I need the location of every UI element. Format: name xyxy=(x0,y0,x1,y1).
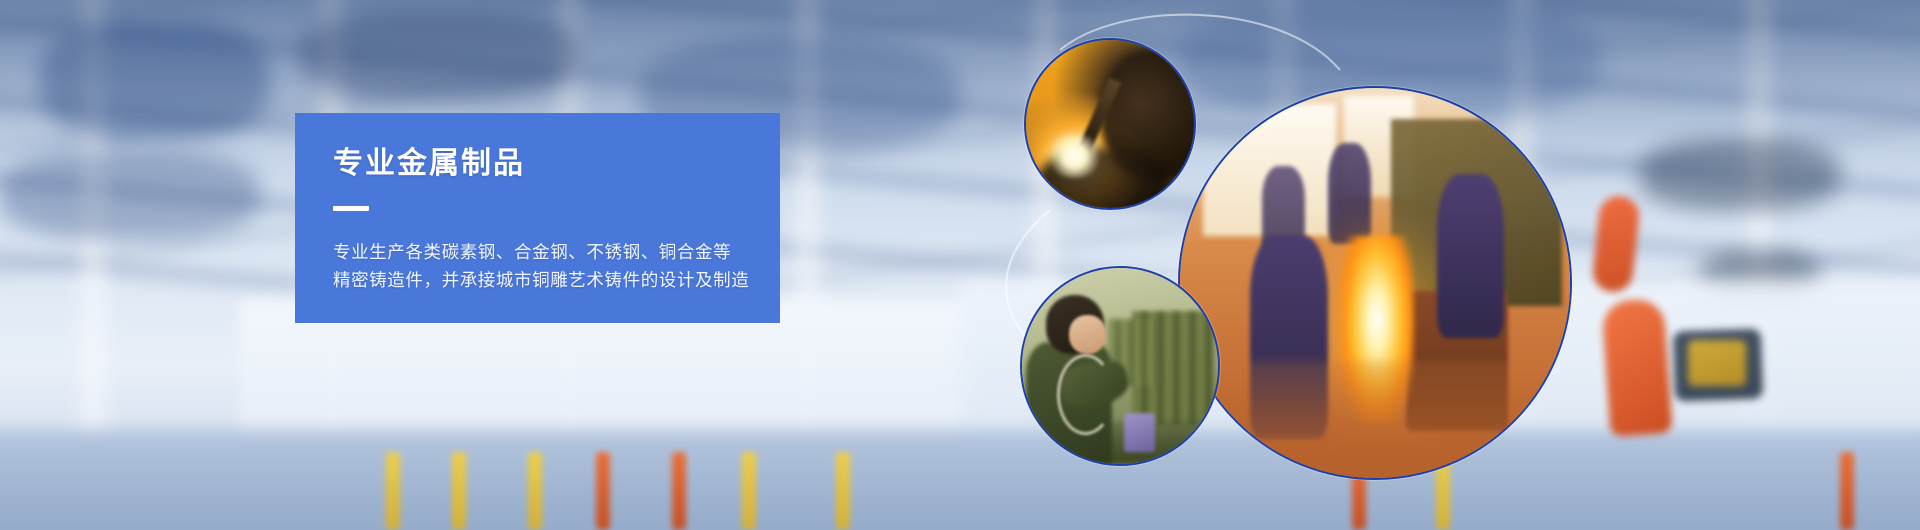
floor-bollard xyxy=(528,452,542,530)
page-title: 专业金属制品 xyxy=(333,147,780,180)
welding-photo-image xyxy=(1026,40,1194,208)
floor-bollard xyxy=(596,452,610,530)
background-top-shadow xyxy=(0,0,1920,160)
hero-banner: 专业金属制品 专业生产各类碳素钢、合金钢、不锈钢、铜合金等 精密铸造件，并承接城… xyxy=(0,0,1920,530)
floor-bollard xyxy=(672,452,686,530)
background-blur-blob-4 xyxy=(0,150,260,240)
assembly-inspection-photo-image xyxy=(1022,268,1218,464)
background-blur-blob-2 xyxy=(300,10,580,100)
promo-text-panel: 专业金属制品 专业生产各类碳素钢、合金钢、不锈钢、铜合金等 精密铸造件，并承接城… xyxy=(295,113,780,323)
background-factory-image xyxy=(0,0,1920,530)
background-floor xyxy=(0,430,1920,530)
foundry-pouring-photo xyxy=(1178,86,1572,480)
floor-bollard xyxy=(452,452,466,530)
background-blur-blob-1 xyxy=(40,20,270,140)
robot-arm-icon xyxy=(1601,298,1672,437)
floor-bollard xyxy=(742,452,756,530)
floor-bollard xyxy=(386,452,400,530)
floor-bollard xyxy=(1840,452,1854,530)
foundry-pouring-photo-image xyxy=(1180,88,1570,478)
assembly-inspection-photo xyxy=(1020,266,1220,466)
title-divider xyxy=(333,206,369,211)
machine-panel-icon xyxy=(1688,340,1746,386)
promo-description-line-1: 专业生产各类碳素钢、合金钢、不锈钢、铜合金等 xyxy=(333,238,780,266)
floor-bollard xyxy=(836,452,850,530)
promo-description-line-2: 精密铸造件，并承接城市铜雕艺术铸件的设计及制造 xyxy=(333,266,780,294)
promo-description: 专业生产各类碳素钢、合金钢、不锈钢、铜合金等 精密铸造件，并承接城市铜雕艺术铸件… xyxy=(333,238,780,295)
background-blur-blob-6 xyxy=(1640,140,1840,210)
welding-photo xyxy=(1024,38,1196,210)
